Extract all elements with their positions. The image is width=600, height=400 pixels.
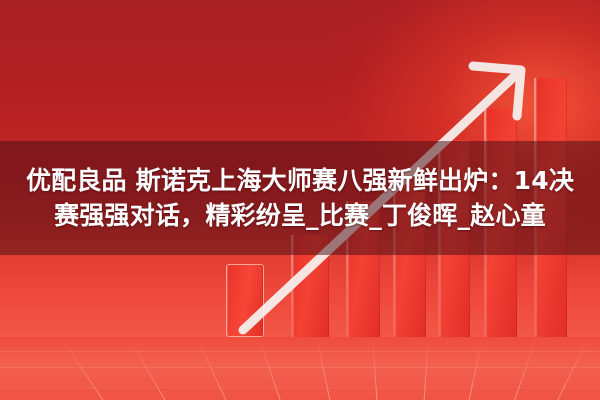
headline-line-1: 优配良品 斯诺克上海大师赛八强新鲜出炉：14决: [26, 166, 574, 196]
floor-horizontal-line: [0, 351, 600, 352]
page-title: 优配良品 斯诺克上海大师赛八强新鲜出炉：14决 赛强强对话，精彩纷呈_比赛_丁俊…: [0, 141, 600, 255]
floor-horizontal-line: [0, 387, 600, 388]
floor-horizontal-line: [0, 367, 600, 368]
promo-banner: 优配良品 斯诺克上海大师赛八强新鲜出炉：14决 赛强强对话，精彩纷呈_比赛_丁俊…: [0, 0, 600, 400]
perspective-grid-floor: [0, 337, 600, 400]
floor-fill: [0, 337, 600, 400]
headline-line-2: 赛强强对话，精彩纷呈_比赛_丁俊晖_赵心童: [54, 201, 546, 231]
